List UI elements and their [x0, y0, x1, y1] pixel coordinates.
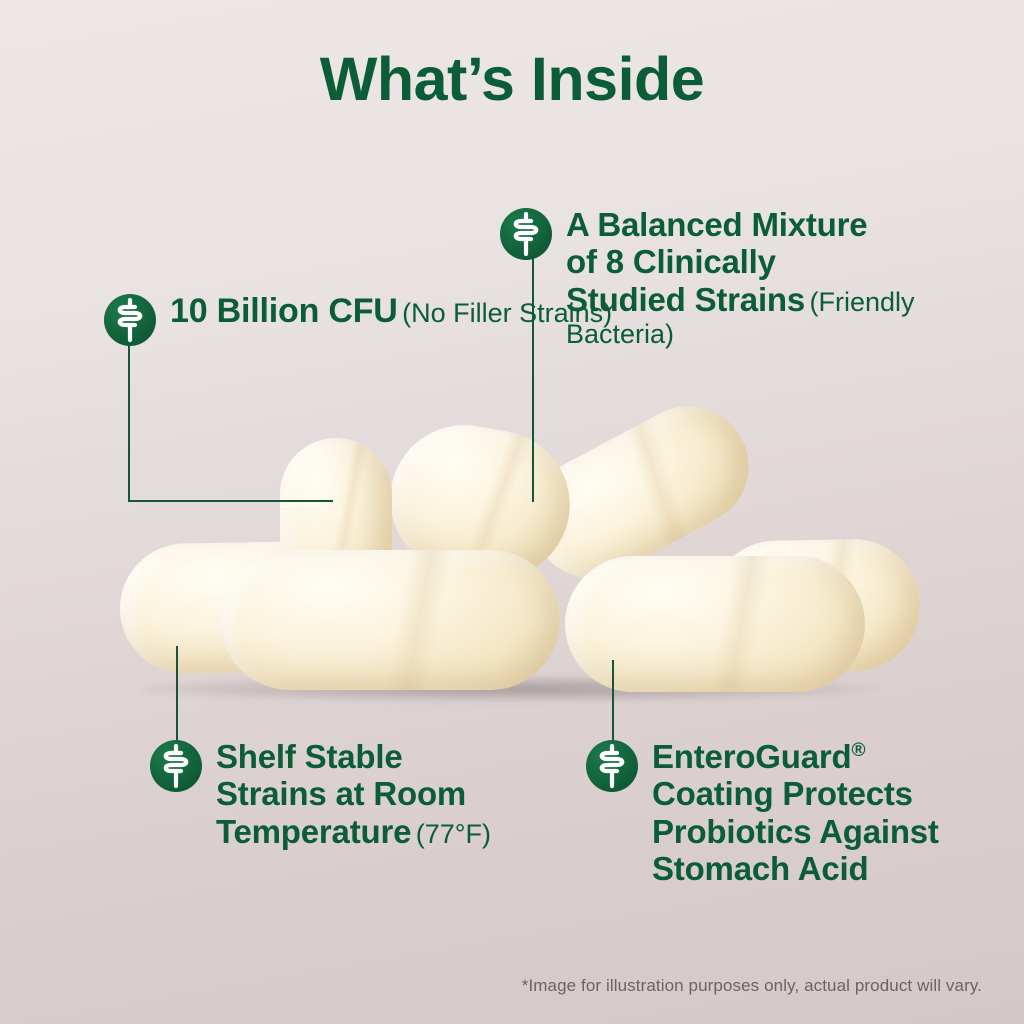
registered-mark: ® [852, 740, 866, 761]
callout-heading-rest: Coating Protects Probiotics Against Stom… [652, 775, 939, 887]
page-title: What’s Inside [0, 44, 1024, 114]
callout-text: Shelf Stable Strains at Room Temperature… [216, 738, 491, 850]
infographic-canvas: What’s Inside 10 Billion CFU (No Filler … [0, 0, 1024, 1024]
intestine-icon [586, 740, 638, 792]
callout-heading: EnteroGuard® Coating Protects Probiotics… [652, 738, 939, 887]
disclaimer-text: *Image for illustration purposes only, a… [522, 976, 982, 996]
callout-text: A Balanced Mixture of 8 Clinically Studi… [566, 206, 970, 350]
intestine-icon [500, 208, 552, 260]
leader-line-shelf [176, 646, 178, 752]
intestine-icon [104, 294, 156, 346]
callout-text: EnteroGuard® Coating Protects Probiotics… [652, 738, 939, 887]
intestine-icon [150, 740, 202, 792]
callout-heading: 10 Billion CFU [170, 292, 398, 330]
callout-enteroguard: EnteroGuard® Coating Protects Probiotics… [586, 738, 1006, 887]
callout-subtext: (77°F) [416, 819, 491, 849]
leader-line-cfu-horizontal [128, 500, 333, 502]
capsule [220, 550, 560, 690]
leader-line-cfu-vertical [128, 340, 130, 502]
callout-heading-brand: EnteroGuard [652, 738, 852, 775]
capsule [565, 556, 865, 692]
callout-balanced-mixture: A Balanced Mixture of 8 Clinically Studi… [500, 206, 970, 350]
callout-shelf-stable: Shelf Stable Strains at Room Temperature… [150, 738, 530, 850]
capsule-pile-image [110, 420, 920, 720]
